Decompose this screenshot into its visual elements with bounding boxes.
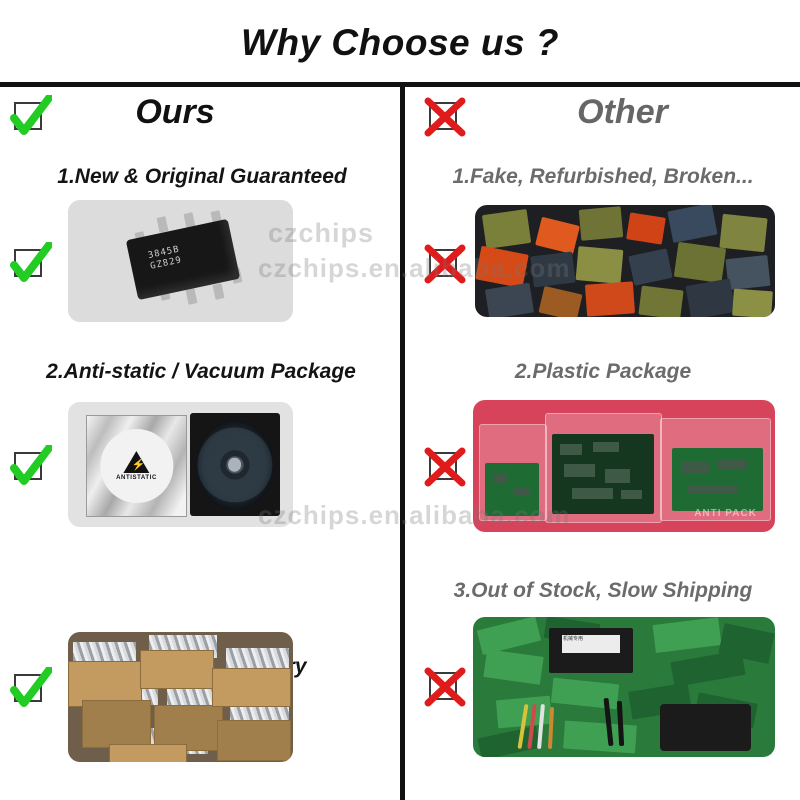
- column-ours: Ours 1.New & Original Guaranteed: [0, 87, 400, 800]
- green-check-icon: [8, 242, 52, 286]
- page-title: Why Choose us ?: [0, 22, 800, 64]
- column-header-ours: Ours: [0, 87, 400, 149]
- ours-item-1-label: 1.New & Original Guaranteed: [12, 165, 392, 189]
- photo-plastic-package: ANTI PACK: [473, 400, 775, 532]
- green-check-icon: [8, 667, 52, 711]
- black-enclosure: [660, 704, 751, 752]
- column-title-ours: Ours: [0, 93, 400, 132]
- other-item-1-label: 1.Fake, Refurbished, Broken...: [409, 165, 797, 189]
- photo-scrap-chips: [475, 205, 775, 317]
- other-item-3-label: 3.Out of Stock, Slow Shipping: [409, 579, 797, 603]
- antistatic-label: ANTISTATIC: [100, 429, 173, 503]
- ours-item-2-label: 2.Anti-static / Vacuum Package: [6, 360, 396, 384]
- high-voltage-warning-icon: [124, 451, 150, 473]
- photo-ic-chip: 3845B GZ829: [68, 200, 293, 322]
- module-label: 机械专用: [562, 635, 619, 653]
- photo-antistatic-package: ANTISTATIC: [68, 402, 293, 527]
- green-check-icon: [8, 445, 52, 489]
- antistatic-caption: ANTISTATIC: [116, 475, 157, 481]
- column-header-other: Other: [405, 87, 800, 149]
- red-cross-icon: [423, 665, 467, 709]
- column-title-other: Other: [405, 93, 800, 132]
- photo-inventory-boxes: [68, 632, 293, 762]
- black-module: 机械专用: [549, 628, 634, 673]
- other-item-2-label: 2.Plastic Package: [409, 360, 797, 384]
- column-other: Other 1.Fake, Refurbished, Broken...: [405, 87, 800, 800]
- why-choose-us-graphic: Why Choose us ? Ours 1.New & Original Gu…: [0, 0, 800, 800]
- red-cross-icon: [423, 445, 467, 489]
- antistatic-bag: ANTISTATIC: [86, 415, 187, 517]
- bag-print-text: ANTI PACK: [694, 508, 757, 519]
- red-cross-icon: [423, 242, 467, 286]
- component-reel: [190, 413, 280, 516]
- photo-scrap-boards: 机械专用: [473, 617, 775, 757]
